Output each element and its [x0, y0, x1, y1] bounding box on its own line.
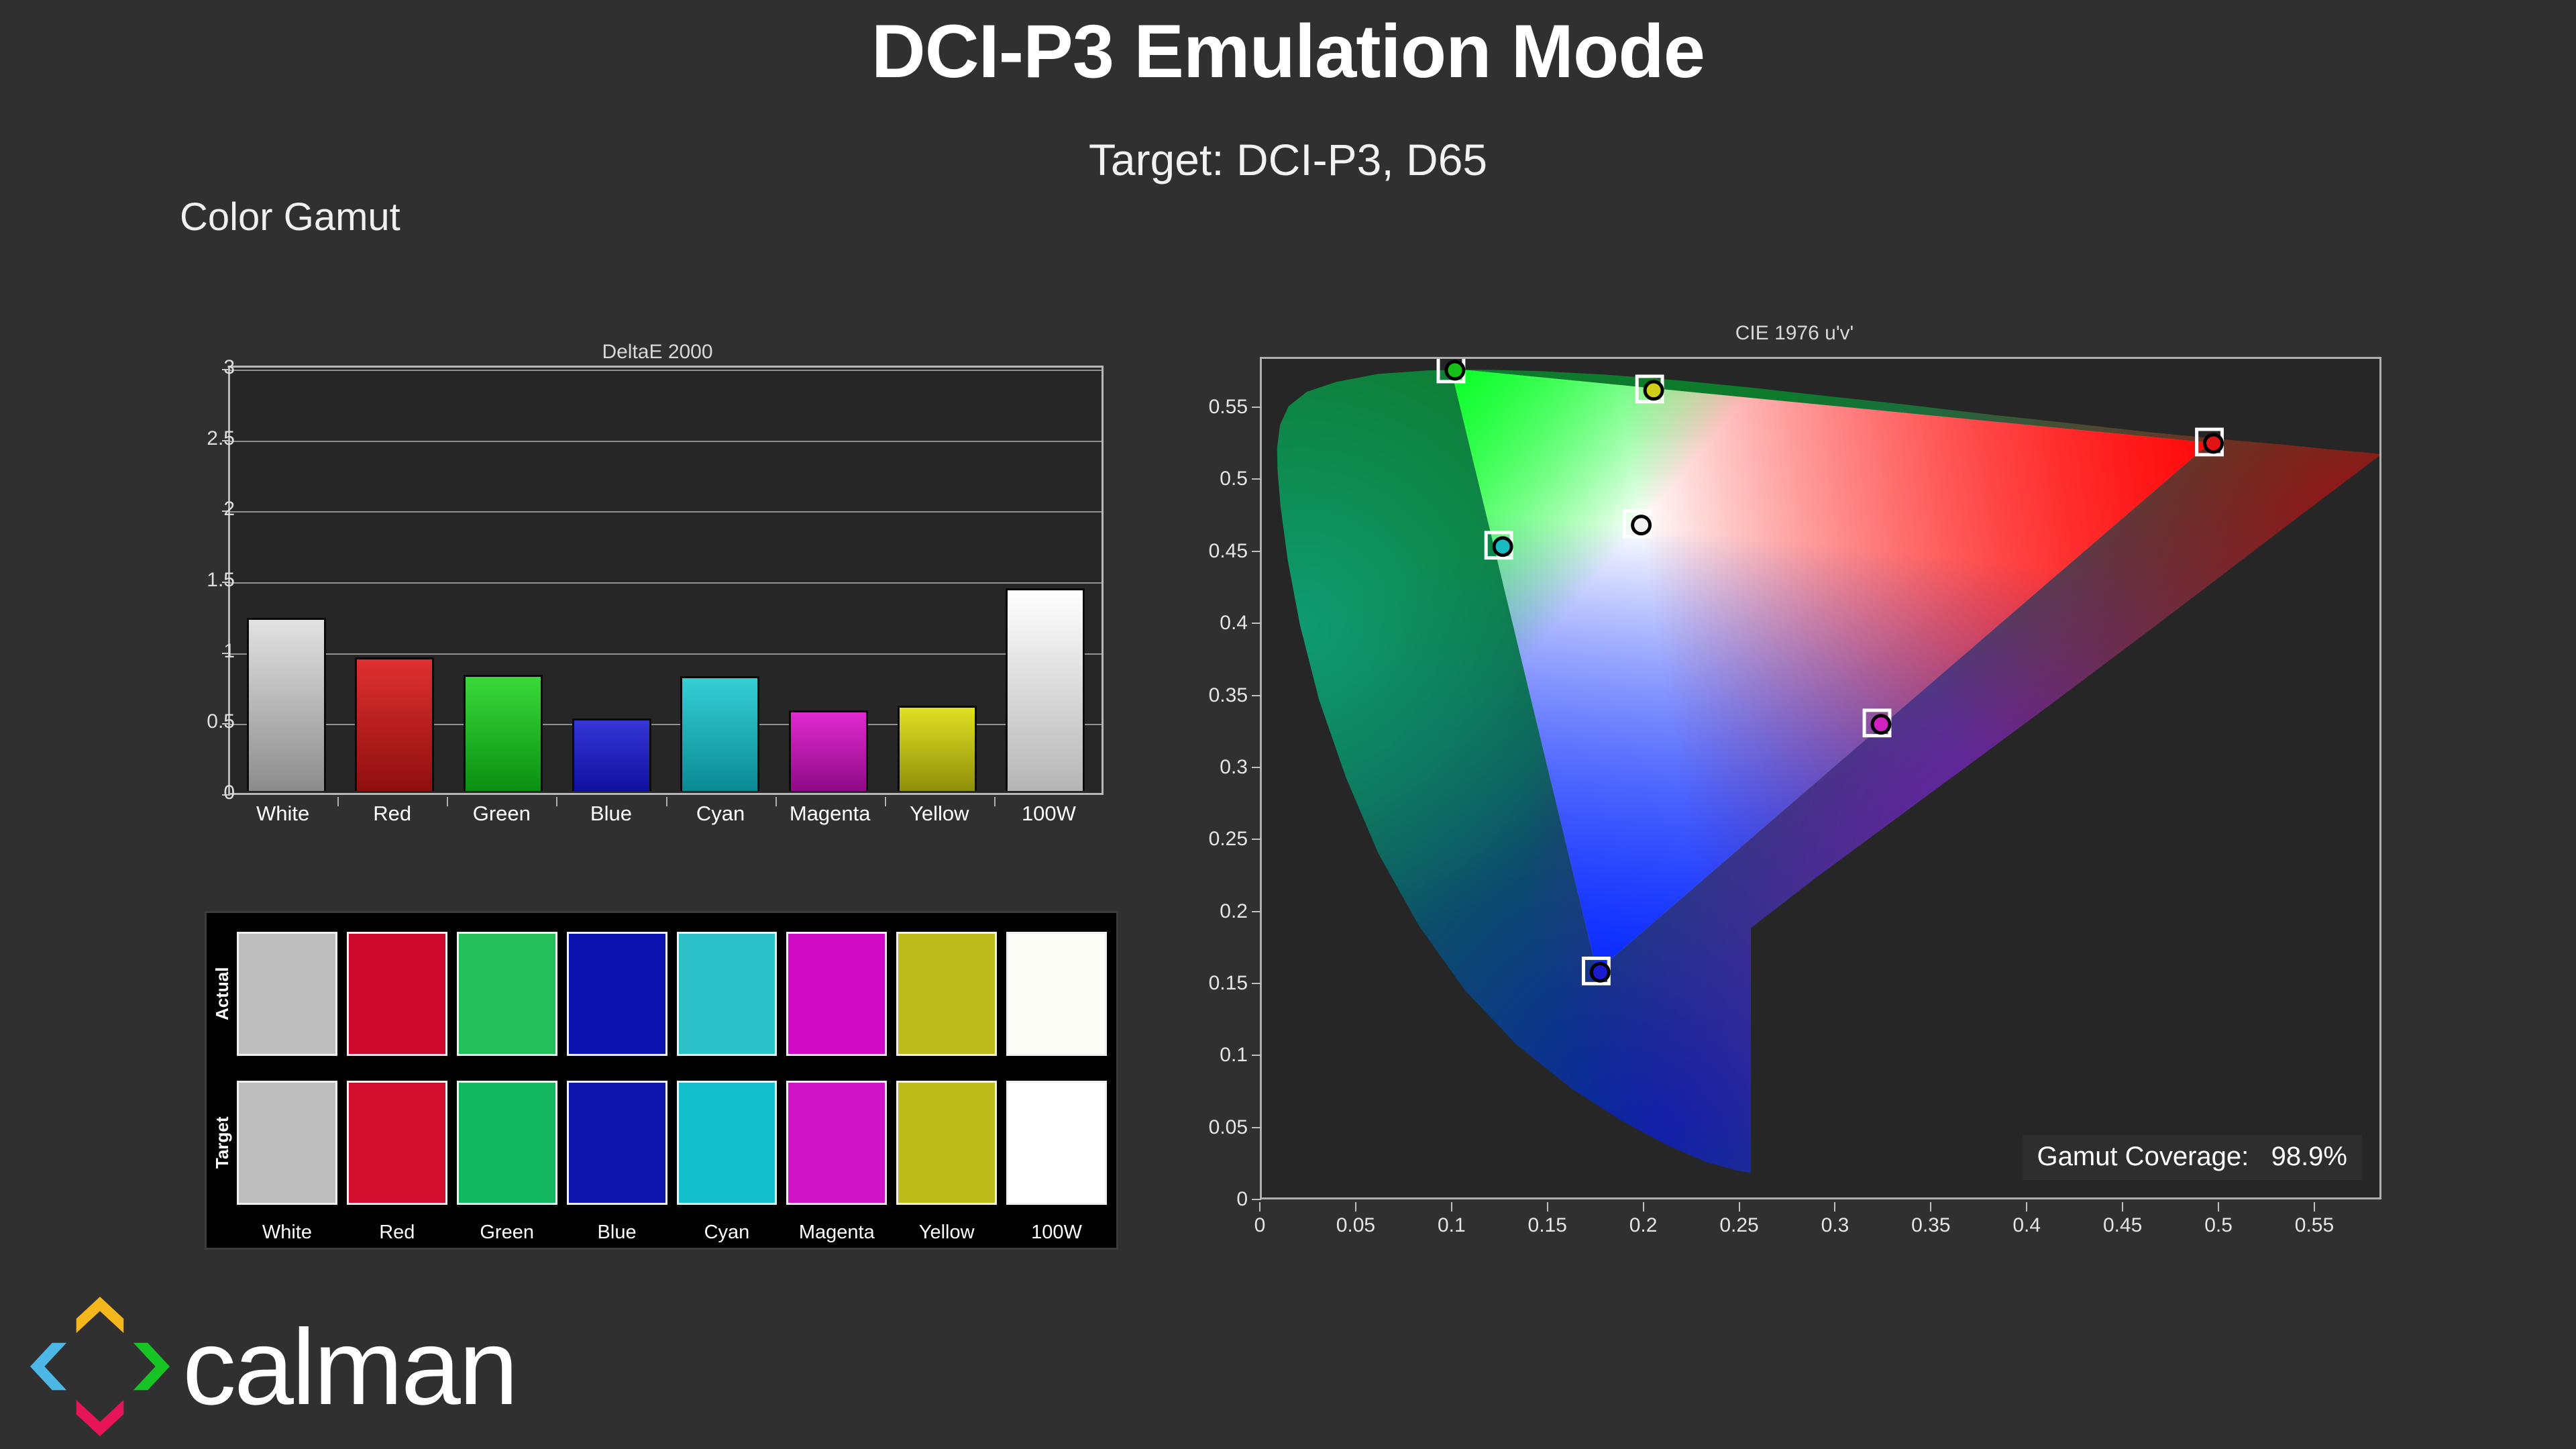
bar-x-tick-label: Yellow — [910, 802, 969, 826]
swatch-comparison-panel: Actual Target WhiteRedGreenBlueCyanMagen… — [205, 911, 1118, 1250]
bar-chart-bars — [232, 370, 1099, 791]
cie-measured-point-white — [1633, 517, 1650, 534]
bar-x-tick-label: White — [256, 802, 309, 826]
cie-x-tick — [1739, 1202, 1740, 1212]
cie-x-tick-label: 0.05 — [1336, 1214, 1375, 1237]
cie-chart-title: CIE 1976 u'v' — [1201, 322, 2388, 345]
cie-y-tick — [1252, 407, 1261, 408]
bar-y-tick-label: 0.5 — [174, 710, 235, 733]
bar-100w — [1006, 588, 1085, 791]
cie-x-tick — [2026, 1202, 2027, 1212]
bar-x-tick — [775, 797, 777, 806]
cie-chromaticity-diagram — [1262, 359, 2379, 1197]
bar-y-tick-label: 1 — [174, 640, 235, 663]
bar-x-tick-label: 100W — [1022, 802, 1076, 826]
bar-y-tick-label: 1.5 — [174, 569, 235, 592]
bar-y-tick-label: 2 — [174, 498, 235, 521]
cie-chart-panel: CIE 1976 u'v' Gamut Coverage: 98.9% 00.0… — [1201, 322, 2388, 1234]
calman-chevron-left — [30, 1343, 66, 1391]
bar-y-tick-label: 0 — [174, 782, 235, 804]
swatch-actual-cyan — [677, 932, 777, 1056]
cie-y-tick-label: 0 — [1167, 1188, 1248, 1211]
deltae-bar-chart-panel: DeltaE 2000 WhiteRedGreenBlueCyanMagenta… — [201, 335, 1114, 832]
cie-x-tick-label: 0.15 — [1528, 1214, 1567, 1237]
bar-slot — [449, 370, 557, 791]
cie-y-tick-label: 0.15 — [1167, 972, 1248, 995]
calman-chevron-bottom — [76, 1400, 124, 1436]
bar-y-tick-label: 2.5 — [174, 427, 235, 450]
bar-x-tick-label: Cyan — [696, 802, 745, 826]
cie-y-tick-label: 0.2 — [1167, 900, 1248, 923]
cie-y-tick — [1252, 1127, 1261, 1128]
calman-diamond-icon — [28, 1295, 172, 1439]
bar-magenta — [789, 710, 868, 791]
cie-x-tick — [1259, 1202, 1260, 1212]
swatch-target-cyan — [677, 1081, 777, 1205]
swatch-column-labels: WhiteRedGreenBlueCyanMagentaYellow100W — [237, 1222, 1107, 1244]
bar-x-tick — [337, 797, 339, 806]
cie-y-tick — [1252, 623, 1261, 624]
cie-y-tick — [1252, 1199, 1261, 1200]
bar-chart-plot-area — [228, 366, 1104, 795]
swatch-row-label-actual: Actual — [212, 940, 233, 1047]
cie-y-tick — [1252, 1055, 1261, 1056]
cie-x-tick-label: 0.45 — [2103, 1214, 2142, 1237]
section-label-color-gamut: Color Gamut — [180, 195, 400, 239]
swatch-actual-green — [457, 932, 557, 1056]
swatch-actual-red — [347, 932, 447, 1056]
swatch-target-red — [347, 1081, 447, 1205]
cie-y-tick — [1252, 551, 1261, 552]
cie-x-tick-label: 0.55 — [2295, 1214, 2334, 1237]
bar-slot — [774, 370, 883, 791]
swatch-row-label-target: Target — [212, 1089, 233, 1196]
bar-x-tick-label: Red — [373, 802, 411, 826]
bar-chart-title: DeltaE 2000 — [201, 341, 1114, 364]
swatch-target-blue — [567, 1081, 667, 1205]
cie-y-tick — [1252, 983, 1261, 984]
swatch-column-label: Cyan — [677, 1222, 777, 1244]
swatch-column-label: 100W — [1006, 1222, 1107, 1244]
cie-y-tick-label: 0.55 — [1167, 396, 1248, 419]
gamut-coverage-label: Gamut Coverage: — [2037, 1142, 2249, 1171]
gamut-coverage-badge: Gamut Coverage: 98.9% — [2023, 1135, 2362, 1180]
bar-y-tick-label: 3 — [174, 356, 235, 379]
swatch-column-label: Magenta — [786, 1222, 887, 1244]
bar-slot — [341, 370, 449, 791]
cie-x-tick-label: 0.35 — [1911, 1214, 1950, 1237]
swatch-actual-magenta — [786, 932, 887, 1056]
bar-slot — [666, 370, 775, 791]
cie-x-tick — [2218, 1202, 2219, 1212]
swatch-column-label: Yellow — [896, 1222, 997, 1244]
swatch-row-actual — [237, 932, 1107, 1056]
page-title: DCI-P3 Emulation Mode — [0, 12, 2576, 91]
cie-y-tick-label: 0.3 — [1167, 756, 1248, 779]
cie-measured-point-red — [2205, 435, 2222, 452]
cie-measured-point-blue — [1591, 963, 1609, 981]
bar-x-tick — [556, 797, 557, 806]
cie-y-tick-label: 0.25 — [1167, 828, 1248, 851]
cie-y-tick-label: 0.35 — [1167, 684, 1248, 707]
cie-x-tick-label: 0.3 — [1821, 1214, 1849, 1237]
cie-chart-plot-area: Gamut Coverage: 98.9% — [1260, 357, 2381, 1199]
bar-x-tick — [885, 797, 886, 806]
bar-slot — [232, 370, 341, 791]
bar-green — [464, 675, 543, 791]
bar-blue — [572, 718, 651, 791]
cie-x-tick-label: 0.5 — [2204, 1214, 2233, 1237]
cie-x-tick-label: 0 — [1254, 1214, 1266, 1237]
cie-measured-point-magenta — [1872, 716, 1890, 733]
bar-x-tick-label: Magenta — [790, 802, 871, 826]
cie-x-tick-label: 0.2 — [1629, 1214, 1658, 1237]
cie-y-tick-label: 0.45 — [1167, 540, 1248, 563]
swatch-target-100w — [1006, 1081, 1107, 1205]
swatch-target-magenta — [786, 1081, 887, 1205]
bar-x-tick — [447, 797, 448, 806]
bar-slot — [991, 370, 1099, 791]
cie-y-tick — [1252, 911, 1261, 912]
swatch-actual-100w — [1006, 932, 1107, 1056]
cie-y-tick-label: 0.4 — [1167, 612, 1248, 635]
calman-logo: calman — [28, 1295, 699, 1442]
bar-x-tick-label: Green — [473, 802, 531, 826]
cie-y-tick — [1252, 839, 1261, 840]
calman-chevron-top — [76, 1297, 124, 1333]
page-subtitle: Target: DCI-P3, D65 — [0, 134, 2576, 185]
cie-gamut-fill — [1262, 359, 2379, 1197]
gamut-coverage-value: 98.9% — [2271, 1142, 2347, 1171]
cie-x-tick — [2122, 1202, 2123, 1212]
bar-x-tick-label: Blue — [590, 802, 632, 826]
cie-y-tick — [1252, 478, 1261, 480]
cie-y-tick — [1252, 767, 1261, 768]
cie-measured-point-cyan — [1494, 538, 1511, 555]
cie-measured-point-yellow — [1645, 382, 1662, 399]
cie-x-tick — [1930, 1202, 1931, 1212]
cie-x-tick — [1355, 1202, 1356, 1212]
cie-x-tick — [1451, 1202, 1452, 1212]
swatch-actual-yellow — [896, 932, 997, 1056]
swatch-target-green — [457, 1081, 557, 1205]
bar-x-tick — [994, 797, 996, 806]
swatch-target-yellow — [896, 1081, 997, 1205]
swatch-column-label: Red — [347, 1222, 447, 1244]
swatch-actual-white — [237, 932, 337, 1056]
swatch-column-label: White — [237, 1222, 337, 1244]
cie-y-tick-label: 0.05 — [1167, 1116, 1248, 1139]
swatch-column-label: Green — [457, 1222, 557, 1244]
cie-y-tick-label: 0.5 — [1167, 468, 1248, 490]
bar-white — [247, 618, 326, 791]
bar-x-tick — [666, 797, 667, 806]
swatch-column-label: Blue — [567, 1222, 667, 1244]
cie-y-tick-label: 0.1 — [1167, 1044, 1248, 1067]
calman-chevron-right — [133, 1343, 170, 1391]
cie-x-tick — [1547, 1202, 1548, 1212]
cie-y-tick — [1252, 695, 1261, 696]
bar-slot — [883, 370, 991, 791]
bar-yellow — [898, 706, 977, 791]
cie-x-tick-label: 0.4 — [2012, 1214, 2041, 1237]
cie-x-tick — [1643, 1202, 1644, 1212]
bar-red — [355, 657, 434, 791]
cie-measured-point-green — [1446, 362, 1464, 379]
swatch-row-target — [237, 1081, 1107, 1205]
calman-wordmark: calman — [182, 1313, 517, 1421]
cie-x-tick-label: 0.1 — [1438, 1214, 1466, 1237]
bar-cyan — [680, 676, 759, 791]
cie-x-tick-label: 0.25 — [1719, 1214, 1758, 1237]
swatch-actual-blue — [567, 932, 667, 1056]
cie-x-tick — [2314, 1202, 2315, 1212]
swatch-target-white — [237, 1081, 337, 1205]
cie-x-tick — [1834, 1202, 1835, 1212]
bar-slot — [557, 370, 666, 791]
